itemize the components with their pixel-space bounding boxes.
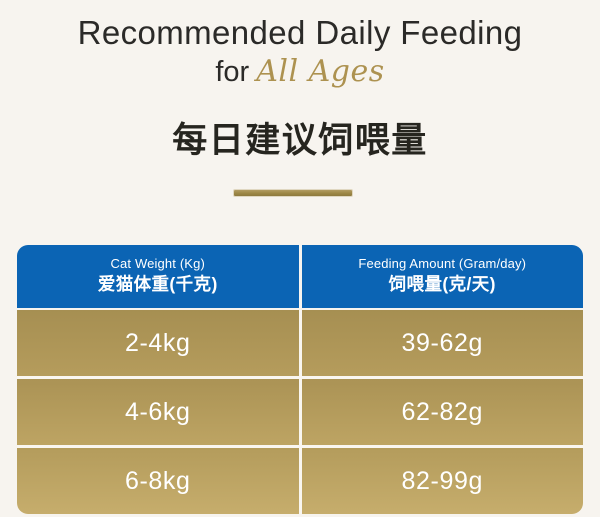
gold-divider-bar — [234, 190, 352, 196]
cell-weight: 2-4kg — [17, 310, 299, 376]
table-body: 2-4kg 39-62g 4-6kg 62-82g 6-8kg 82-99g — [17, 310, 583, 514]
table-header-feeding-amount-en: Feeding Amount (Gram/day) — [358, 256, 526, 272]
page-title-chinese: 每日建议饲喂量 — [0, 112, 600, 163]
table-header-row: Cat Weight (Kg) 爱猫体重(千克) Feeding Amount … — [17, 245, 583, 310]
page-title-for-word: for — [215, 56, 249, 88]
cell-amount: 62-82g — [299, 379, 584, 445]
table-header-cat-weight-cn: 爱猫体重(千克) — [98, 273, 218, 297]
page-title-line2: forAll Ages — [0, 54, 600, 89]
page-heading: Recommended Daily Feeding forAll Ages — [0, 14, 600, 89]
table-header-cat-weight-en: Cat Weight (Kg) — [111, 256, 206, 272]
page-title-script-accent: All Ages — [256, 54, 384, 89]
table-row: 2-4kg 39-62g — [17, 310, 583, 376]
table-header-cat-weight: Cat Weight (Kg) 爱猫体重(千克) — [17, 245, 299, 308]
feeding-table: Cat Weight (Kg) 爱猫体重(千克) Feeding Amount … — [17, 245, 583, 514]
cell-amount: 82-99g — [299, 448, 584, 514]
table-row: 4-6kg 62-82g — [17, 376, 583, 445]
cell-amount: 39-62g — [299, 310, 584, 376]
table-header-feeding-amount-cn: 饲喂量(克/天) — [389, 273, 496, 297]
cell-weight: 6-8kg — [17, 448, 299, 514]
feeding-guide-page: Recommended Daily Feeding forAll Ages 每日… — [0, 0, 600, 517]
page-title-line1: Recommended Daily Feeding — [0, 14, 600, 53]
cell-weight: 4-6kg — [17, 379, 299, 445]
table-header-feeding-amount: Feeding Amount (Gram/day) 饲喂量(克/天) — [299, 245, 584, 308]
table-row: 6-8kg 82-99g — [17, 445, 583, 514]
